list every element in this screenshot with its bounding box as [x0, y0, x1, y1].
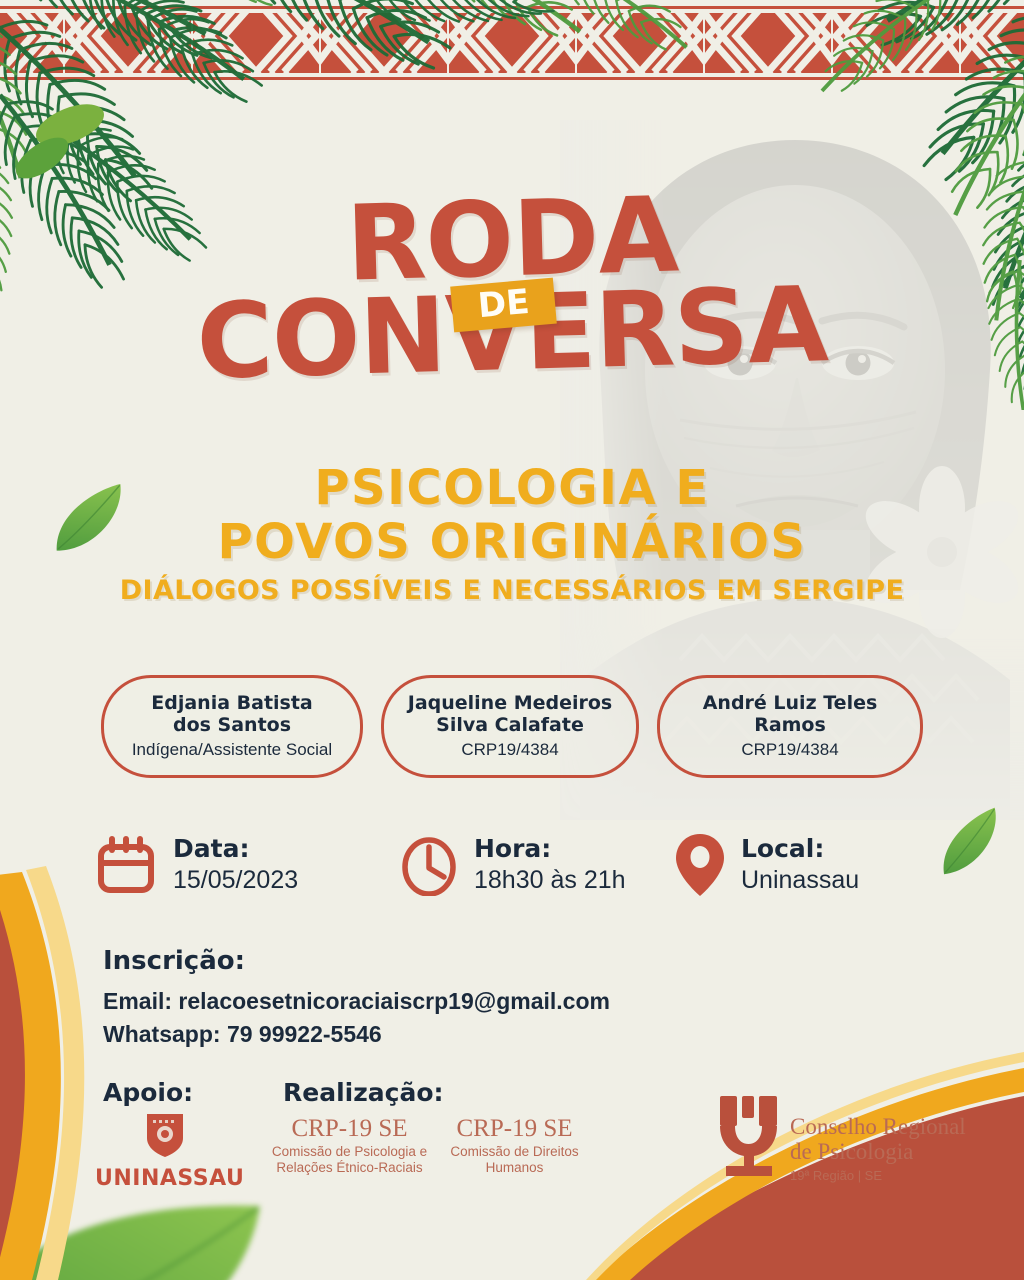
- event-title-line2: POVOS ORIGINÁRIOS: [0, 516, 1024, 570]
- crp-logo-line2: de Psicologia: [790, 1139, 966, 1164]
- crp-psi-symbol-icon: [718, 1092, 780, 1178]
- uninassau-logo: UNINASSAU: [95, 1112, 235, 1191]
- speakers-row: Edjania Batista dos Santos Indígena/Assi…: [0, 675, 1024, 778]
- crp-commission-block: CRP-19 SE Comissão de Direitos Humanos: [437, 1116, 592, 1176]
- info-label: Data:: [173, 833, 298, 864]
- info-label: Local:: [741, 833, 859, 864]
- crp-block-subtitle: Comissão de Direitos Humanos: [437, 1144, 592, 1175]
- crp-logo-line3: 19ª Região | SE: [790, 1168, 966, 1183]
- speaker-pill: Jaqueline Medeiros Silva Calafate CRP19/…: [381, 675, 639, 778]
- speaker-role: CRP19/4384: [394, 740, 626, 760]
- realizacao-heading: Realização:: [283, 1078, 444, 1107]
- speaker-pill: André Luiz Teles Ramos CRP19/4384: [657, 675, 923, 778]
- registration-email: Email: relacoesetnicoraciaiscrp19@gmail.…: [103, 985, 610, 1018]
- info-item-date: Data: 15/05/2023: [95, 832, 400, 898]
- speaker-name: Edjania Batista dos Santos: [114, 692, 350, 737]
- registration-whatsapp: Whatsapp: 79 99922-5546: [103, 1018, 610, 1051]
- event-title-line1: PSICOLOGIA E: [0, 462, 1024, 516]
- speaker-role: CRP19/4384: [670, 740, 910, 760]
- registration-heading: Inscrição:: [103, 946, 610, 976]
- crp-block-title: CRP-19 SE: [437, 1116, 592, 1142]
- speaker-role: Indígena/Assistente Social: [114, 740, 350, 760]
- info-item-time: Hora: 18h30 às 21h: [400, 832, 675, 898]
- crp-block-title: CRP-19 SE: [262, 1116, 437, 1142]
- event-info-row: Data: 15/05/2023 Hora: 18h30 às 21h: [95, 832, 955, 898]
- info-value: 15/05/2023: [173, 864, 298, 897]
- info-value: Uninassau: [741, 864, 859, 897]
- crp-logo-line1: Conselho Regional: [790, 1114, 966, 1139]
- clock-icon: [400, 834, 458, 896]
- hero-de-badge: DE: [450, 278, 557, 333]
- crp-block-subtitle: Comissão de Psicologia e Relações Étnico…: [262, 1144, 437, 1175]
- crp-regional-logo: Conselho Regional de Psicologia 19ª Regi…: [718, 1092, 966, 1183]
- poster-canvas: RODA CONVERSA DE PSICOLOGIA E POVOS ORIG…: [0, 0, 1024, 1280]
- location-pin-icon: [675, 832, 725, 898]
- speaker-name: Jaqueline Medeiros Silva Calafate: [394, 692, 626, 737]
- apoio-heading: Apoio:: [103, 1078, 193, 1107]
- uninassau-shield-icon: [145, 1112, 185, 1158]
- speaker-pill: Edjania Batista dos Santos Indígena/Assi…: [101, 675, 363, 778]
- info-value: 18h30 às 21h: [474, 864, 626, 897]
- calendar-icon: [95, 834, 157, 896]
- info-label: Hora:: [474, 833, 626, 864]
- registration-block: Inscrição: Email: relacoesetnicoraciaisc…: [103, 946, 610, 1050]
- info-item-location: Local: Uninassau: [675, 832, 955, 898]
- event-title: PSICOLOGIA E POVOS ORIGINÁRIOS: [0, 462, 1024, 570]
- crp-commission-block: CRP-19 SE Comissão de Psicologia e Relaç…: [262, 1116, 437, 1176]
- uninassau-wordmark: UNINASSAU: [95, 1166, 235, 1191]
- event-subtitle: DIÁLOGOS POSSÍVEIS E NECESSÁRIOS EM SERG…: [0, 575, 1024, 606]
- speaker-name: André Luiz Teles Ramos: [670, 692, 910, 737]
